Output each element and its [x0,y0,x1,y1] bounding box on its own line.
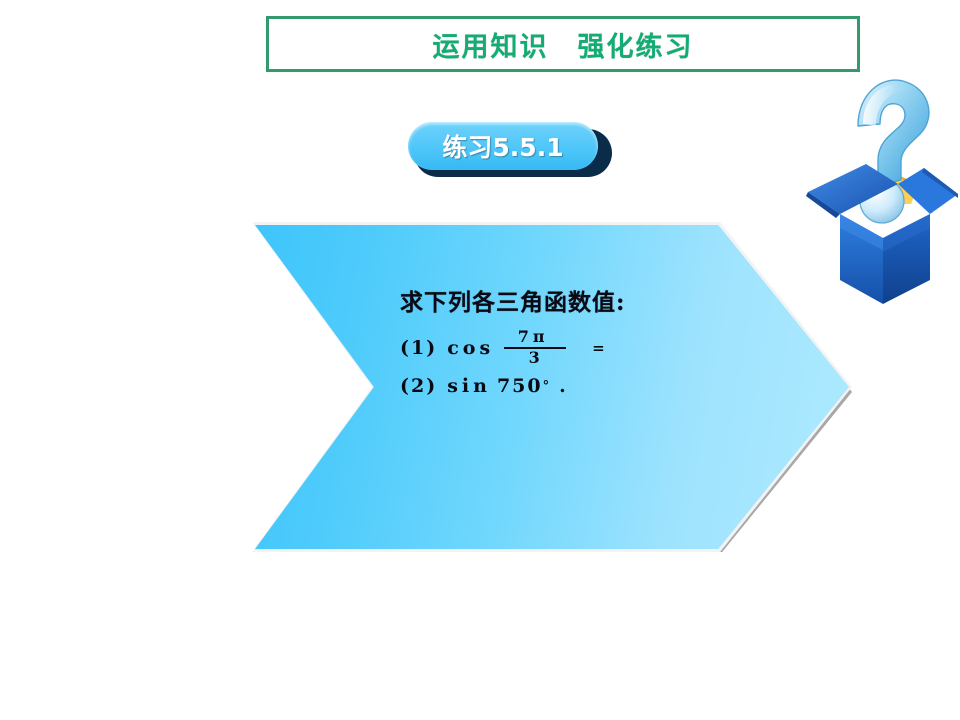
item-1-denominator: 3 [529,349,542,367]
question-mark-in-box-icon [806,68,960,306]
exercise-button-label: 练习5.5.1 [442,128,563,164]
exercise-item-1: (1) cos 7π 3 = [400,326,780,370]
item-2-function: sin [447,375,491,397]
item-2-terminator: . [559,375,568,397]
item-1-fraction: 7π 3 [504,329,566,367]
title-box: 运用知识 强化练习 [266,16,860,72]
slide-canvas: 运用知识 强化练习 练习5.5.1 求下列各三角函数值: (1) cos 7π … [0,0,960,720]
item-1-equals: = [592,339,607,357]
page-title: 运用知识 强化练习 [433,25,694,64]
item-1-function: cos [447,337,494,359]
item-1-label: (1) [400,337,437,359]
exercise-button[interactable]: 练习5.5.1 [408,122,612,178]
item-1-numerator: 7π [514,329,557,347]
exercise-content: 求下列各三角函数值: (1) cos 7π 3 = (2) sin 750 ° … [400,283,780,400]
exercise-item-2: (2) sin 750 ° . [400,372,780,400]
exercise-button-face[interactable]: 练习5.5.1 [408,122,598,170]
exercise-prompt: 求下列各三角函数值: [400,283,780,317]
item-2-angle: 750 [497,375,543,397]
degree-symbol: ° [543,379,552,394]
item-2-label: (2) [400,375,437,397]
